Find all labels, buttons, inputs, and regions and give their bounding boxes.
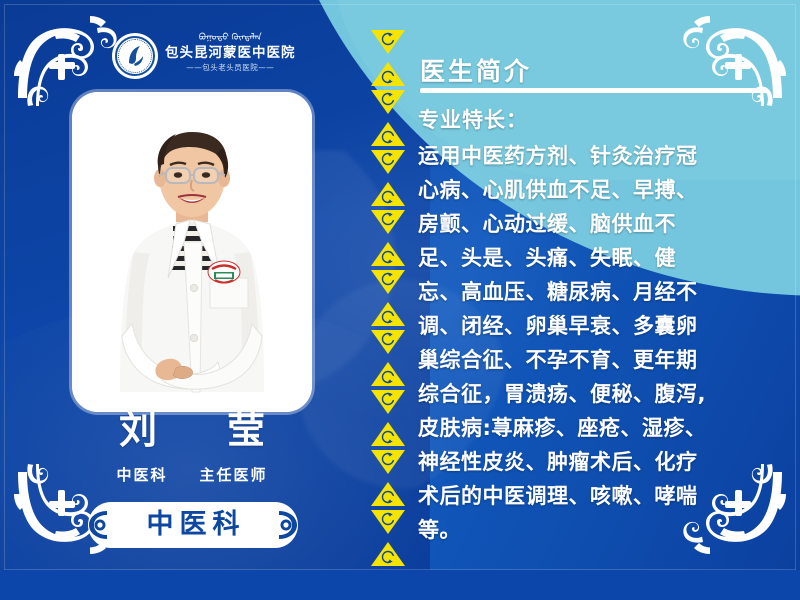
specialty-line: 神经性皮炎、肿瘤术后、化疗 — [418, 445, 774, 479]
panel-body: 专业特长： 运用中医药方剂、针灸治疗冠心病、心肌供血不足、早搏、房颤、心动过缓、… — [418, 104, 774, 547]
hospital-circle-logo-icon — [112, 33, 158, 79]
doctor-title-row: 中医科 主任医师 — [62, 464, 322, 485]
panel-title-rule — [420, 88, 768, 93]
specialty-line: 调、闭经、卵巢早衰、多囊卵 — [418, 309, 774, 343]
doctor-rank: 主任医师 — [200, 464, 268, 485]
specialty-line: 等。 — [418, 513, 774, 547]
doctor-profile-poster: ᠪᠤᠭᠤᠲᠤ ᠬᠦᠨᠳᠡᠯᠡᠨ 包头昆河蒙医中医院 ——包头老头员医院—— — [0, 0, 800, 600]
hospital-name-block: ᠪᠤᠭᠤᠲᠤ ᠬᠦᠨᠳᠡᠯᠡᠨ 包头昆河蒙医中医院 ——包头老头员医院—— — [165, 32, 296, 73]
hospital-mongolian-script: ᠪᠤᠭᠤᠲᠤ ᠬᠦᠨᠳᠡᠯᠡᠨ — [199, 33, 262, 43]
specialty-text: 运用中医药方剂、针灸治疗冠心病、心肌供血不足、早搏、房颤、心动过缓、脑供血不足、… — [418, 139, 774, 547]
mongolian-triangle-band-icon — [368, 28, 408, 568]
specialty-line: 皮肤病:荨麻疹、座疮、湿疹、 — [418, 411, 774, 445]
hospital-name-cn: 包头昆河蒙医中医院 — [165, 45, 296, 62]
specialty-line: 术后的中医调理、咳嗽、哮喘 — [418, 479, 774, 513]
doctor-portrait — [72, 92, 312, 412]
background-bottom-strip — [0, 570, 800, 600]
department-badge-label: 中医科 — [141, 510, 246, 540]
scroll-cloud-icon — [275, 509, 301, 541]
specialty-line: 巢综合征、不孕不育、更年期 — [418, 343, 774, 377]
specialty-line: 综合征，胃溃疡、便秘、腹泻, — [418, 377, 774, 411]
specialty-line: 运用中医药方剂、针灸治疗冠 — [418, 139, 774, 173]
panel-title: 医生简介 — [420, 52, 532, 88]
mongolian-scroll-corner-icon — [680, 2, 798, 114]
scroll-cloud-icon — [85, 509, 111, 541]
specialty-label: 专业特长： — [418, 104, 774, 137]
specialty-line: 足、头是、头痛、失眠、健 — [418, 241, 774, 275]
doctor-name: 刘 莹 — [72, 408, 312, 452]
doctor-portrait-card — [72, 92, 312, 412]
specialty-line: 房颤、心动过缓、脑供血不 — [418, 207, 774, 241]
hospital-header: ᠪᠤᠭᠤᠲᠤ ᠬᠦᠨᠳᠡᠯᠡᠨ 包头昆河蒙医中医院 ——包头老头员医院—— — [112, 32, 312, 90]
doctor-department: 中医科 — [116, 464, 167, 485]
department-badge: 中医科 — [88, 502, 298, 548]
hospital-name-sub: ——包头老头员医院—— — [186, 63, 274, 73]
specialty-line: 忘、高血压、糖尿病、月经不 — [418, 275, 774, 309]
specialty-line: 心病、心肌供血不足、早搏、 — [418, 173, 774, 207]
logo-leaf-glyph — [125, 44, 145, 68]
